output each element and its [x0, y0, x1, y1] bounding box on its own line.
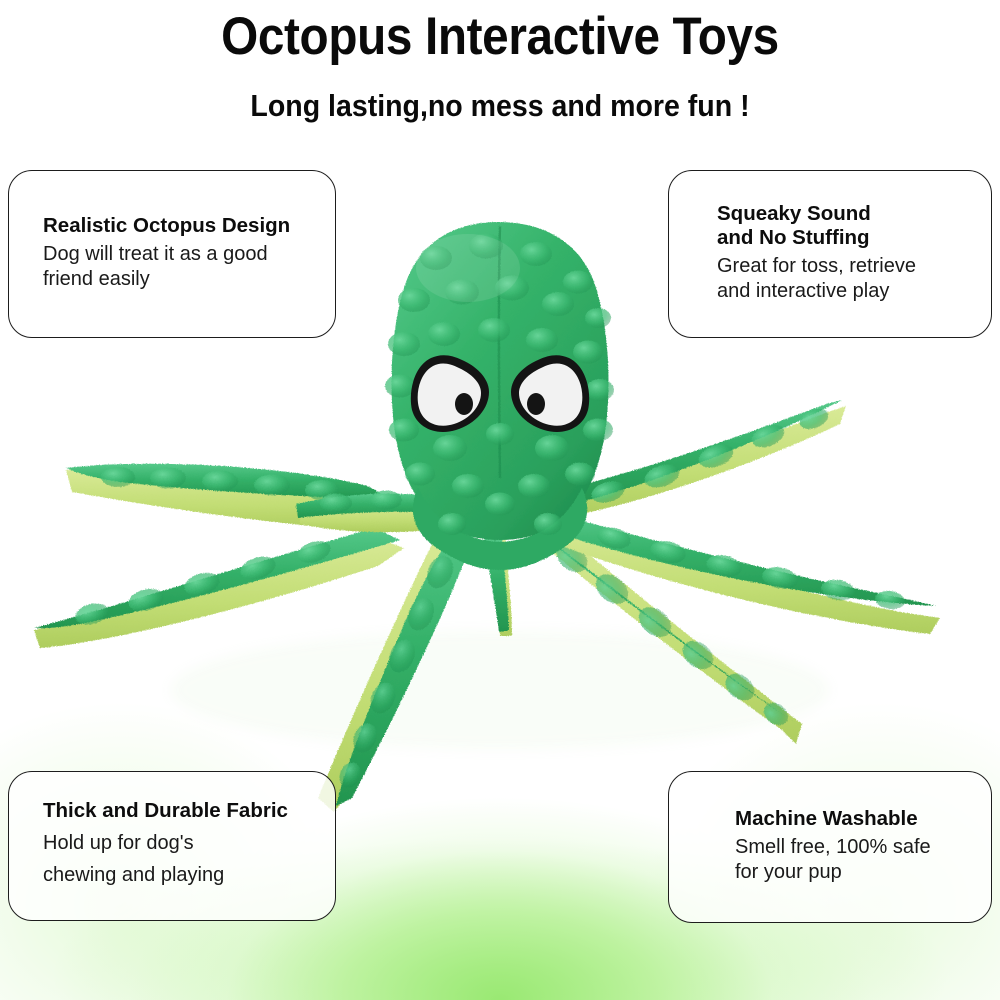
page-title: Octopus Interactive Toys: [50, 6, 950, 67]
page-subtitle: Long lasting,no mess and more fun !: [40, 88, 960, 124]
callout-thick-durable-fabric: Thick and Durable Fabric Hold up for dog…: [8, 771, 336, 921]
callout-heading: Realistic Octopus Design: [29, 214, 315, 239]
callout-heading: Thick and Durable Fabric: [29, 799, 315, 824]
callout-realistic-octopus-design: Realistic Octopus Design Dog will treat …: [8, 170, 336, 338]
callout-body: Hold up for dog's chewing and playing: [29, 827, 315, 892]
callout-heading: Squeaky Sound and No Stuffing: [689, 202, 971, 252]
callout-body: Great for toss, retrieve and interactive…: [689, 254, 971, 304]
callout-heading: Machine Washable: [689, 807, 971, 832]
callout-body: Dog will treat it as a good friend easil…: [29, 242, 315, 292]
callout-body: Smell free, 100% safe for your pup: [689, 835, 971, 885]
product-infographic: Octopus Interactive Toys Long lasting,no…: [0, 0, 1000, 1000]
callout-squeaky-sound-no-stuffing: Squeaky Sound and No Stuffing Great for …: [668, 170, 992, 338]
callout-machine-washable: Machine Washable Smell free, 100% safe f…: [668, 771, 992, 923]
